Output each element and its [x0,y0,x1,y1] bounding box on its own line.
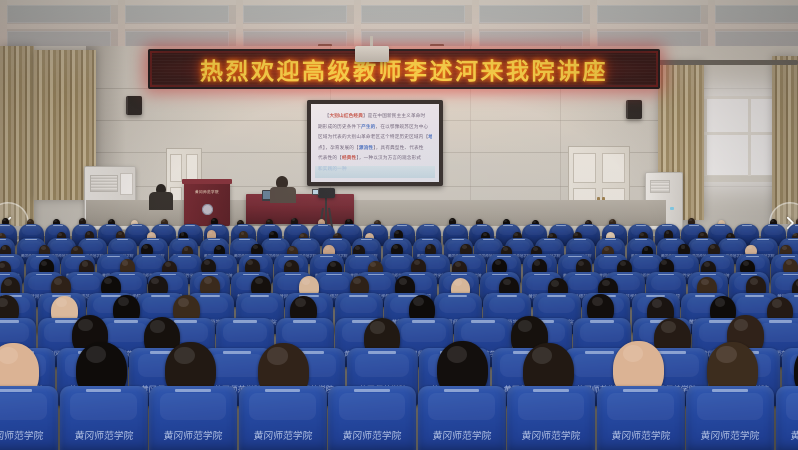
hair-highlight [80,218,83,220]
hair-highlight [334,233,338,236]
hair-highlight [610,219,613,221]
led-banner-text: 热烈欢迎高级教师李述河来我院讲座 [200,53,608,85]
podium-label: 黄冈师范学院 [187,190,227,195]
seat-clip [639,256,653,257]
hair-highlight [143,245,148,249]
hair-highlight [132,221,135,223]
hair-highlight [728,234,732,237]
hair-highlight [620,261,626,266]
seat-clip [265,389,300,392]
hair-highlight [54,278,62,285]
seat-clip [250,295,269,297]
auditorium-seat[interactable] [776,386,798,450]
hair-highlight [366,234,370,237]
auditorium-seat[interactable] [418,386,506,450]
hair-highlight [73,247,78,251]
hair-highlight [782,246,787,250]
hair-highlight [602,280,610,287]
hair-highlight [793,233,797,236]
hair-highlight [209,231,213,234]
hair-highlight [549,234,553,237]
hair-highlight [644,247,649,251]
hair-highlight [0,298,8,307]
hair-highlight [413,297,424,306]
hair-highlight [174,347,194,364]
hair-highlight [54,220,57,222]
auditorium-seat[interactable] [60,386,148,450]
hair-highlight [58,233,62,236]
hair-highlight [292,218,295,220]
seat-clip [36,256,50,257]
hair-highlight [652,299,663,308]
projection-screen: 【大别山红色经典】是在中国新民主主义革命时期形成的历史条件下产生的，在以鄂豫皖苏… [307,100,443,186]
seat-row: 黄冈师范学院黄冈师范学院黄冈师范学院黄冈师范学院黄冈师范学院黄冈师范学院黄冈师范… [0,386,798,450]
seat-clip [0,256,14,257]
hair-highlight [719,220,722,222]
seat-clip [604,256,618,257]
auditorium-seat[interactable] [149,386,237,450]
hair-highlight [743,261,749,266]
speaker-right [626,100,642,119]
hair-highlight [238,221,241,223]
slide-line: 区域为代表的大别山革命老区这个特定历史区域内【地 [318,134,432,142]
hair-highlight [289,247,294,251]
hair-highlight [608,233,612,236]
video-camera [318,188,335,198]
hair-highlight [734,319,749,331]
hair-highlight [28,220,31,222]
seat-clip [585,351,613,354]
hair-highlight [716,346,736,363]
hair-highlight [267,347,287,364]
seat-clip [533,256,547,257]
slide-content: 【大别山红色经典】是在中国新民主主义革命时期形成的历史条件下产生的，在以鄂豫皖苏… [318,113,432,170]
hair-highlight [681,245,686,249]
hair-highlight [118,297,129,306]
hair-highlight [503,279,511,286]
photo-viewer: 热烈欢迎高级教师李述河来我院讲座 【大别山红色经典】是在中国新民主主义革命时期形… [0,0,798,450]
seat-clip [175,389,210,392]
hair-highlight [447,346,467,363]
presenter-body [270,187,296,203]
seat-clip [658,351,686,354]
hair-highlight [41,246,46,250]
hair-highlight [700,233,704,236]
seat-clip [547,295,566,297]
seat-clip [213,256,227,257]
hair-highlight [355,246,360,250]
seat-clip [349,295,368,297]
hair-highlight [41,261,47,266]
seat-clip [712,389,747,392]
hair-highlight [640,233,644,236]
led-banner: 热烈欢迎高级教师李述河来我院讲座 [148,49,660,89]
seat-clip [142,256,156,257]
hair-highlight [532,347,552,364]
hair-highlight [518,320,533,332]
hair-highlight [150,320,165,332]
curtain-rod [652,60,798,65]
seat-clip [710,256,724,257]
seat-clip [769,320,792,322]
technician-body [149,192,173,210]
auditorium-seat[interactable] [507,386,595,450]
hair-highlight [212,219,215,221]
auditorium-seat[interactable] [0,386,58,450]
hair-highlight [181,232,185,235]
seat-clip [178,256,192,257]
hair-highlight [184,247,189,251]
seat-clip [794,295,798,297]
hair-highlight [689,219,692,221]
hair-highlight [604,247,609,251]
university-emblem [202,204,213,215]
hair-highlight [750,278,758,285]
seat-clip [200,295,219,297]
hair-highlight [454,279,462,286]
hair-highlight [393,245,398,249]
podium: 黄冈师范学院 [184,182,230,226]
hair-highlight [704,262,710,267]
hair-highlight [302,278,310,285]
hair-highlight [534,260,540,265]
seat-clip [368,351,396,354]
hair-highlight [247,260,253,265]
seat-clip [590,320,613,322]
seat-clip [86,389,121,392]
hair-highlight [414,260,420,265]
seat-clip [426,256,440,257]
hair-highlight [450,219,453,221]
hair-highlight [165,262,171,267]
seat-clip [354,389,389,392]
hair-highlight [477,219,480,221]
hair-highlight [2,246,7,250]
hair-highlight [151,278,159,285]
seat-clip [233,320,256,322]
table-skirt [246,206,354,224]
hair-highlight [86,346,106,363]
hair-highlight [295,298,306,307]
hair-highlight [122,260,128,265]
hair-highlight [578,261,584,266]
hair-highlight [504,220,507,222]
hair-highlight [370,262,376,267]
seat-clip [497,256,511,257]
tripod-column [325,196,327,210]
hair-highlight [715,298,726,307]
auditorium-seat[interactable] [328,386,416,450]
hair-highlight [786,260,792,265]
hair-highlight [375,220,378,222]
hair-highlight [0,263,5,268]
hair-highlight [661,260,667,265]
slide-line: 期形成的历史条件下产生的，在以鄂豫皖苏区为中心 [318,124,432,132]
auditorium-seat[interactable] [686,386,774,450]
hair-highlight [701,279,709,286]
hair-highlight [82,261,88,266]
hair-highlight [353,278,361,285]
hair-highlight [286,262,292,267]
hair-highlight [178,298,189,307]
seat-clip [675,256,689,257]
hair-highlight [514,233,518,236]
slide-line: 【大别山红色经典】是在中国新民主主义革命时 [318,113,432,121]
hair-highlight [3,219,6,221]
seat-clip [391,256,405,257]
seat-clip [151,295,170,297]
hair-highlight [503,247,508,251]
hair-highlight [241,232,245,235]
hair-highlight [370,321,385,333]
seat-clip [320,256,334,257]
hair-highlight [574,233,578,236]
projector [355,46,389,62]
hair-highlight [483,233,487,236]
hair-highlight [204,277,212,284]
seat-clip [444,389,479,392]
hair-highlight [325,246,330,250]
seat-clip [0,320,19,322]
seat-clip [284,256,298,257]
hair-highlight [0,347,18,364]
hair-highlight [204,260,210,265]
seat-clip [471,320,494,322]
hair-highlight [395,231,399,234]
seat-clip [223,351,251,354]
curtain-right-outer [772,56,798,224]
hair-highlight [399,278,407,285]
hair-highlight [267,220,270,222]
hair-highlight [118,232,122,235]
hair-highlight [270,232,274,235]
hair-highlight [320,220,323,222]
hair-highlight [551,280,559,287]
ceiling [0,0,798,52]
seat-clip [709,320,732,322]
seat-clip [497,295,516,297]
hair-highlight [255,278,263,285]
hair-highlight [455,262,461,267]
hair-highlight [0,233,2,236]
hair-highlight [300,234,304,237]
hair-highlight [253,245,258,249]
hair-highlight [747,246,752,250]
seat-clip [695,295,714,297]
seat-clip [448,295,467,297]
seat-clip [114,320,137,322]
hair-highlight [330,262,336,267]
seat-clip [745,295,764,297]
hair-highlight [623,345,643,362]
hair-highlight [78,319,93,331]
hair-highlight [56,298,67,307]
hair-highlight [533,247,538,251]
seat-clip [568,256,582,257]
hair-highlight [347,219,350,221]
auditorium-seat[interactable] [597,386,685,450]
hair-highlight [109,219,112,221]
seat-clip [746,256,760,257]
slide-line: 点】，孕育发展的【源流性】，具有典型性、代表性 [318,145,432,153]
hair-highlight [427,245,432,249]
hair-highlight [4,279,12,286]
hair-highlight [462,245,467,249]
seat-clip [71,256,85,257]
seat-clip [462,256,476,257]
hair-highlight [592,297,603,306]
hair-highlight [661,321,676,333]
hair-highlight [666,231,670,234]
auditorium-seat[interactable] [239,386,327,450]
seat-clip [293,320,316,322]
hair-highlight [216,246,221,250]
slide-line: 代表性的【经典性】，一种以汉为方言的观念形式 [318,155,432,163]
seat-clip [355,256,369,257]
ceiling-tint [0,0,798,52]
curtain-left-outer [0,46,34,226]
seat-clip [0,389,32,392]
seat-clip [533,389,568,392]
hair-highlight [149,233,153,236]
seat-clip [623,389,658,392]
seat-clip [412,320,435,322]
hair-highlight [771,220,774,222]
seat-clip [107,256,121,257]
hair-highlight [533,221,536,223]
hair-highlight [104,278,112,285]
hair-highlight [772,299,783,308]
seat-clip [249,256,263,257]
seat-clip [781,256,795,257]
speaker-left [126,96,142,115]
hair-highlight [710,245,715,249]
seat-clip [174,320,197,322]
hair-highlight [87,232,91,235]
hair-highlight [495,260,501,265]
hair-highlight [162,219,165,221]
